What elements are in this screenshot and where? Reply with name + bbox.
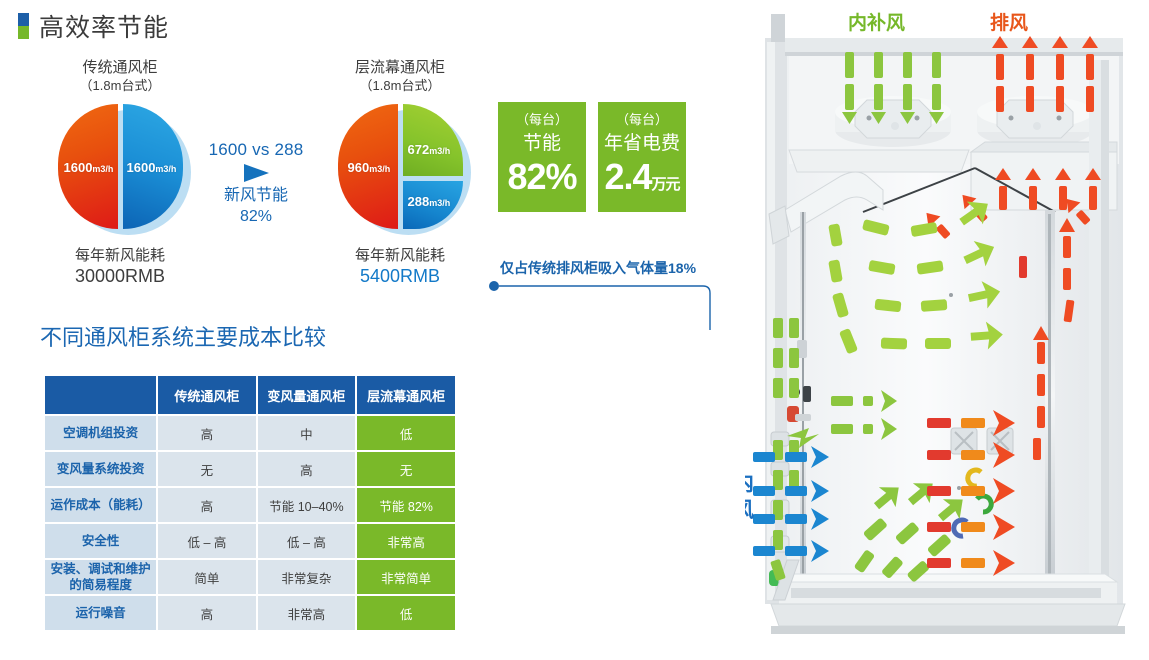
cell-traditional: 高 <box>158 488 255 522</box>
cell-vav: 节能 10–40% <box>258 488 356 522</box>
badge-mid: 年省电费 <box>598 130 686 157</box>
cell-traditional: 高 <box>158 596 255 630</box>
cell-traditional: 无 <box>158 452 255 486</box>
table-row: 安装、调试和维护的简易程度 简单 非常复杂 非常简单 <box>45 560 455 594</box>
table-col-laminar: 层流幕通风柜 <box>357 376 455 414</box>
infographic-page: 高效率节能 传统通风柜 （1.8m台式） 1600m3/h 1600m3/h 每… <box>0 0 1149 660</box>
pie-value-blue: 288m3/h <box>408 194 451 209</box>
table-row: 空调机组投资 高 中 低 <box>45 416 455 450</box>
pie-slice-supply <box>403 104 463 176</box>
pie-value-orange: 960m3/h <box>348 160 391 175</box>
pie-title-laminar: 层流幕通风柜 <box>290 58 510 77</box>
cell-vav: 非常复杂 <box>258 560 356 594</box>
cell-laminar: 低 <box>357 596 455 630</box>
cell-laminar: 节能 82% <box>357 488 455 522</box>
pie-value-right: 1600m3/h <box>127 160 177 175</box>
cell-laminar: 非常高 <box>357 524 455 558</box>
badge-cost-saving: （每台） 年省电费 2.4万元 <box>598 102 686 212</box>
left-panel: 传统通风柜 （1.8m台式） 1600m3/h 1600m3/h 每年新风能耗 … <box>0 0 745 660</box>
table-heading: 不同通风柜系统主要成本比较 <box>40 320 326 352</box>
badge-sub: （每台） <box>498 110 586 130</box>
right-arrow-icon <box>244 164 269 182</box>
pie-title-traditional: 传统通风柜 <box>10 58 230 77</box>
annotation-text: 仅占传统排风柜吸入气体量18% <box>500 258 696 278</box>
pie-subtitle-traditional: （1.8m台式） <box>10 77 230 95</box>
pie-chart-laminar: 960m3/h 672m3/h 288m3/h <box>338 104 463 229</box>
label-room-line1: 室内 <box>745 470 754 497</box>
exhaust-dash-small <box>1019 256 1027 278</box>
label-room-line2: 新风 <box>745 497 754 524</box>
annotation-callout: 仅占传统排风柜吸入气体量18% <box>500 258 696 278</box>
label-room-fresh-air: 室内 新风 <box>745 470 754 524</box>
pie-subtitle-laminar: （1.8m台式） <box>290 77 510 95</box>
pie-footer-value: 5400RMB <box>290 266 510 287</box>
pie-chart-traditional: 1600m3/h 1600m3/h <box>58 104 183 229</box>
row-label: 安全性 <box>45 524 156 558</box>
pie-footer-label: 每年新风能耗 <box>290 245 510 266</box>
table-row: 变风量系统投资 无 高 无 <box>45 452 455 486</box>
cell-laminar: 无 <box>357 452 455 486</box>
label-supply-air: 内补风 <box>848 8 905 35</box>
fume-hood-illustration: 内补风 排风 室内 新风 <box>745 0 1149 660</box>
table-col-traditional: 传统通风柜 <box>158 376 255 414</box>
badge-energy-saving: （每台） 节能 82% <box>498 102 586 212</box>
pie-footer-laminar: 每年新风能耗 5400RMB <box>290 245 510 287</box>
table-col-vav: 变风量通风柜 <box>258 376 356 414</box>
cell-traditional: 低 – 高 <box>158 524 255 558</box>
cell-vav: 高 <box>258 452 356 486</box>
cell-laminar: 非常简单 <box>357 560 455 594</box>
cell-traditional: 简单 <box>158 560 255 594</box>
cell-laminar: 低 <box>357 416 455 450</box>
cost-comparison-table: 传统通风柜 变风量通风柜 层流幕通风柜 空调机组投资 高 中 低 变风量系统投资… <box>43 374 457 632</box>
row-label: 安装、调试和维护的简易程度 <box>45 560 156 594</box>
table-header-row: 传统通风柜 变风量通风柜 层流幕通风柜 <box>45 376 455 414</box>
badge-value: 2.4万元 <box>598 157 686 205</box>
pie-value-green: 672m3/h <box>408 142 451 157</box>
annotation-leader-line <box>488 280 718 330</box>
pie-footer-value: 30000RMB <box>10 266 230 287</box>
row-label: 空调机组投资 <box>45 416 156 450</box>
pie-block-laminar: 层流幕通风柜 （1.8m台式） 960m3/h 672m3/h 288m3/h … <box>290 58 510 287</box>
badge-value: 82% <box>498 157 586 197</box>
table-row: 运作成本（能耗） 高 节能 10–40% 节能 82% <box>45 488 455 522</box>
row-label: 运行噪音 <box>45 596 156 630</box>
pie-value-left: 1600m3/h <box>64 160 114 175</box>
cell-vav: 非常高 <box>258 596 356 630</box>
table-row: 安全性 低 – 高 低 – 高 非常高 <box>45 524 455 558</box>
cell-vav: 低 – 高 <box>258 524 356 558</box>
pie-footer-label: 每年新风能耗 <box>10 245 230 266</box>
badge-mid: 节能 <box>498 130 586 157</box>
label-exhaust-air: 排风 <box>990 8 1028 35</box>
table-corner-cell <box>45 376 156 414</box>
row-label: 变风量系统投资 <box>45 452 156 486</box>
cell-traditional: 高 <box>158 416 255 450</box>
badge-sub: （每台） <box>598 110 686 130</box>
fume-hood-diagram <box>745 0 1149 660</box>
cell-vav: 中 <box>258 416 356 450</box>
table-row: 运行噪音 高 非常高 低 <box>45 596 455 630</box>
pie-footer-traditional: 每年新风能耗 30000RMB <box>10 245 230 287</box>
row-label: 运作成本（能耗） <box>45 488 156 522</box>
